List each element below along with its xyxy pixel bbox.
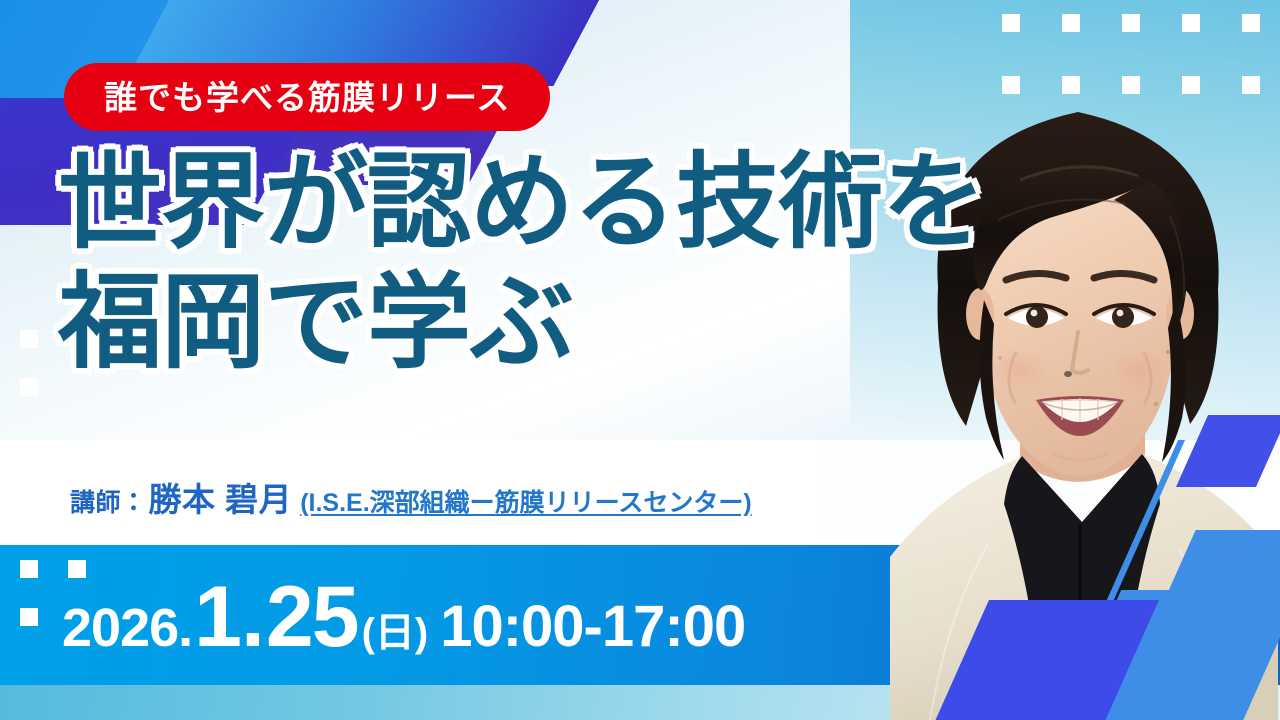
seminar-banner: 誰でも学べる筋膜リリース 世界が認める技術を 福岡で学ぶ 講師： 勝本 碧月 (… [0,0,1280,720]
event-year: 2026. [62,597,192,659]
headline-line-1: 世界が認める技術を [58,150,985,256]
headline-line-2: 福岡で学ぶ [58,270,985,376]
event-date-line: 2026. 1 . 25 (日) 10:00-17:00 [62,568,745,667]
headline: 世界が認める技術を 福岡で学ぶ [58,150,985,376]
event-month: 1 [194,568,240,667]
event-time: 10:00-17:00 [440,593,745,660]
tagline-badge: 誰でも学べる筋膜リリース [64,63,550,131]
event-separator: . [241,568,265,667]
tagline-badge-label: 誰でも学べる筋膜リリース [104,81,510,114]
event-day-of-week: (日) [362,600,429,658]
event-day: 25 [266,568,358,667]
instructor-label: 講師： [70,483,147,519]
instructor-line: 講師： 勝本 碧月 (I.S.E.深部組織ー筋膜リリースセンター) [70,473,752,521]
instructor-organization-text: (I.S.E.深部組織ー筋膜リリースセンター) [300,489,752,517]
instructor-name: 勝本 碧月 [149,473,293,521]
instructor-organization: (I.S.E.深部組織ー筋膜リリースセンター) [300,483,752,519]
